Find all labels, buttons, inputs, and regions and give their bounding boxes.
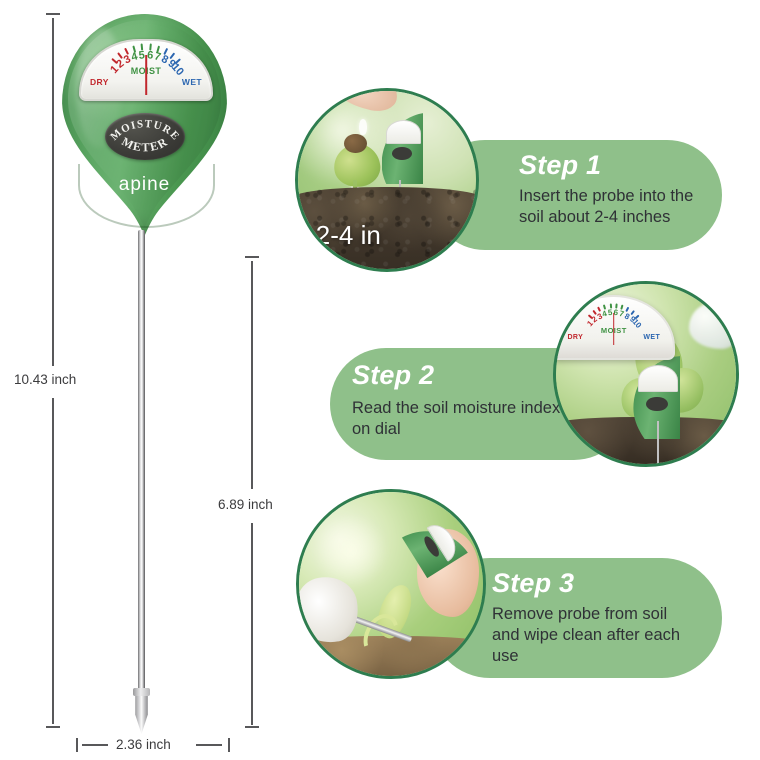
step-2-body: Read the soil moisture index on dial xyxy=(352,398,562,440)
step-2-photo-scene: 12345678910 DRY MOIST WET xyxy=(556,284,736,464)
meter-head: 12345678910 DRY MOIST WET MOISTURE xyxy=(62,14,227,236)
dial-tick xyxy=(149,44,151,51)
step-3-title: Step 3 xyxy=(492,568,574,599)
probe-tip xyxy=(134,688,149,734)
mini-meter-1 xyxy=(382,112,423,183)
callout-needle xyxy=(613,313,615,345)
dial-face: 12345678910 DRY MOIST WET xyxy=(81,41,211,99)
moisture-dial: 12345678910 DRY MOIST WET xyxy=(79,39,213,101)
callout-label-wet: WET xyxy=(643,334,660,341)
step-1-photo-scene: 2-4 in xyxy=(298,91,476,269)
callout-label-dry: DRY xyxy=(567,334,583,341)
dial-tick xyxy=(609,304,611,309)
step-3-photo-scene xyxy=(299,492,483,676)
step-2-photo: 12345678910 DRY MOIST WET xyxy=(553,281,739,467)
brand-logo-text: apine xyxy=(62,174,227,196)
step-3-photo xyxy=(296,489,486,679)
step-1-photo: 2-4 in xyxy=(295,88,479,272)
step-3-body: Remove probe from soil and wipe clean af… xyxy=(492,604,697,667)
step-1-photo-caption: 2-4 in xyxy=(316,220,381,251)
badge-text-arcs: MOISTURE METER xyxy=(105,113,185,160)
dial-tick xyxy=(141,44,143,51)
product-infographic: 10.43 inch 6.89 inch 2.36 inch 123456789… xyxy=(0,0,760,760)
dial-tick xyxy=(133,45,136,52)
svg-text:METER: METER xyxy=(119,134,170,154)
metal-probe-shaft xyxy=(138,230,145,690)
step-2-title: Step 2 xyxy=(352,360,434,391)
dial-label-wet: WET xyxy=(182,77,202,87)
product-image-soil-moisture-meter: 12345678910 DRY MOIST WET MOISTURE xyxy=(52,8,252,748)
step-1-body: Insert the probe into the soil about 2-4… xyxy=(519,186,719,228)
moisture-meter-badge: MOISTURE METER xyxy=(105,113,185,160)
probe-tip-collar xyxy=(133,688,150,696)
svg-text:MOISTURE: MOISTURE xyxy=(108,118,182,143)
step-1-title: Step 1 xyxy=(519,150,601,181)
dial-label-dry: DRY xyxy=(90,77,109,87)
dial-needle xyxy=(145,55,147,95)
magnified-dial-callout: 12345678910 DRY MOIST WET xyxy=(553,295,675,360)
